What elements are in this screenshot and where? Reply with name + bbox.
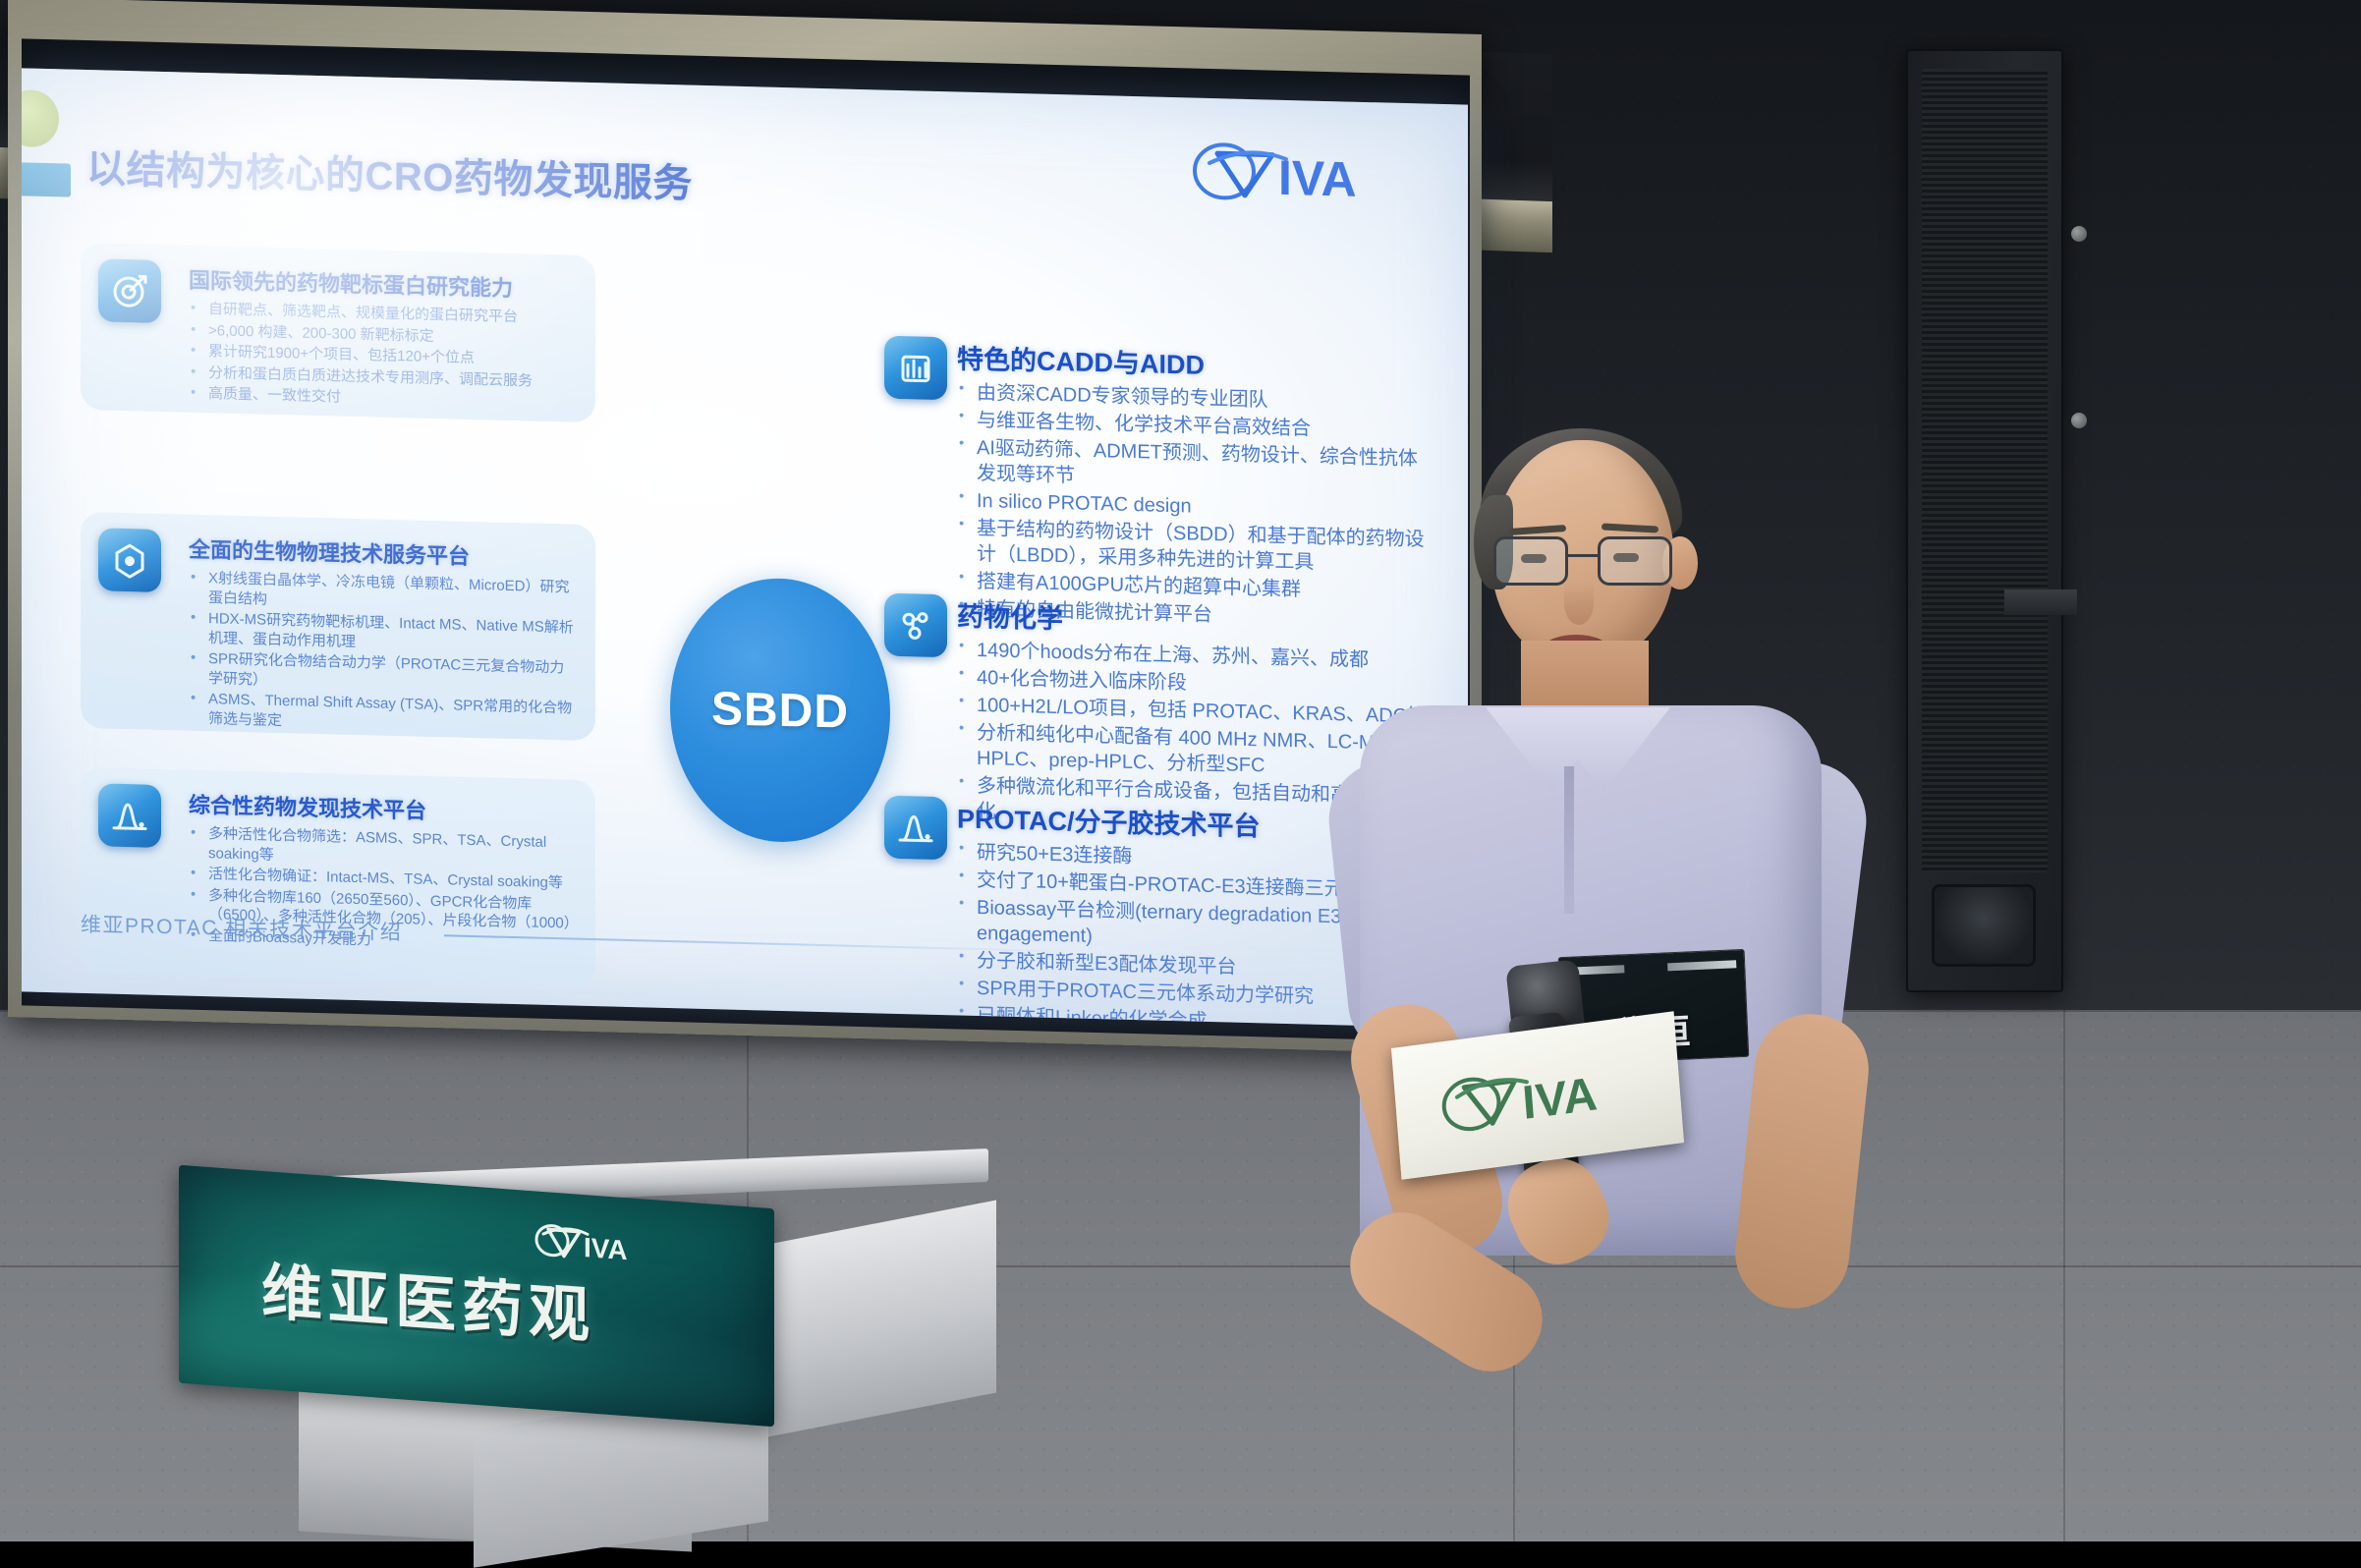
- card-biophysics-platform: 全面的生物物理技术服务平台 X射线蛋白晶体学、冷冻电镜（单颗粒、MicroED）…: [81, 512, 595, 741]
- section-heading: 特色的CADD与AIDD: [957, 337, 1427, 387]
- card-discovery-platform: 综合性药物发现技术平台 多种活性化合物筛选：ASMS、SPR、TSA、Cryst…: [81, 767, 595, 986]
- chromatogram-icon: [98, 783, 161, 848]
- card-bullets: 自研靶点、筛选靶点、规模量化的蛋白研究平台 >6,000 构建、200-300 …: [189, 300, 576, 413]
- presenter: 学恒 IVA: [1277, 413, 1945, 1541]
- podium-side-panel: [768, 1200, 996, 1436]
- viva-logo: IVA: [1180, 133, 1391, 212]
- shirt-placket: [1564, 766, 1574, 914]
- brand-bar-decoration: [22, 162, 71, 197]
- glasses-bridge: [1568, 554, 1598, 557]
- target-icon: [98, 258, 161, 323]
- glasses: [1493, 536, 1676, 588]
- podium-front-panel: IVA 维亚医药观: [179, 1165, 774, 1428]
- wall-seam-vertical: [2063, 1010, 2065, 1541]
- podium: IVA 维亚医药观: [179, 1165, 1004, 1541]
- chromatogram-icon: [884, 796, 947, 861]
- card-heading: 国际领先的药物靶标蛋白研究能力: [189, 263, 576, 305]
- sbdd-center-badge: SBDD: [670, 576, 890, 845]
- card-bullets: X射线蛋白晶体学、冷冻电镜（单颗粒、MicroED）研究蛋白结构 HDX-MS研…: [189, 569, 576, 738]
- bullet: ASMS、Thermal Shift Assay (TSA)、SPR常用的化合物…: [189, 690, 576, 738]
- chemistry-icon: [884, 593, 947, 658]
- lens-right: [1598, 536, 1672, 586]
- nose: [1564, 582, 1594, 625]
- sbdd-label: SBDD: [711, 682, 849, 740]
- protein-icon: [98, 528, 161, 592]
- slide: 以结构为核心的CRO药物发现服务 IVA 国际领先的药物靶标蛋白研究能力 自研靶…: [22, 68, 1468, 1028]
- svg-text:IVA: IVA: [1521, 1068, 1600, 1130]
- svg-text:IVA: IVA: [1278, 150, 1357, 207]
- speaker-driver: [1932, 884, 2036, 967]
- svg-text:IVA: IVA: [584, 1232, 628, 1265]
- card-heading: 综合性药物发现技术平台: [189, 788, 576, 829]
- mic-flag-viva-logo: IVA: [1428, 1042, 1648, 1149]
- brand-dot-decoration: [22, 89, 59, 147]
- wall-screw: [2071, 413, 2087, 428]
- card-target-protein: 国际领先的药物靶标蛋白研究能力 自研靶点、筛选靶点、规模量化的蛋白研究平台 >6…: [81, 243, 595, 422]
- projection-screen: 以结构为核心的CRO药物发现服务 IVA 国际领先的药物靶标蛋白研究能力 自研靶…: [22, 68, 1468, 1028]
- wall-screw: [2071, 226, 2087, 242]
- page-title: 以结构为核心的CRO药物发现服务: [86, 137, 693, 209]
- cadd-icon: [884, 336, 947, 401]
- card-heading: 全面的生物物理技术服务平台: [189, 532, 576, 574]
- badge-stripe: [1667, 960, 1736, 971]
- lens-left: [1493, 536, 1568, 586]
- speaker-mount-arm: [2004, 589, 2077, 615]
